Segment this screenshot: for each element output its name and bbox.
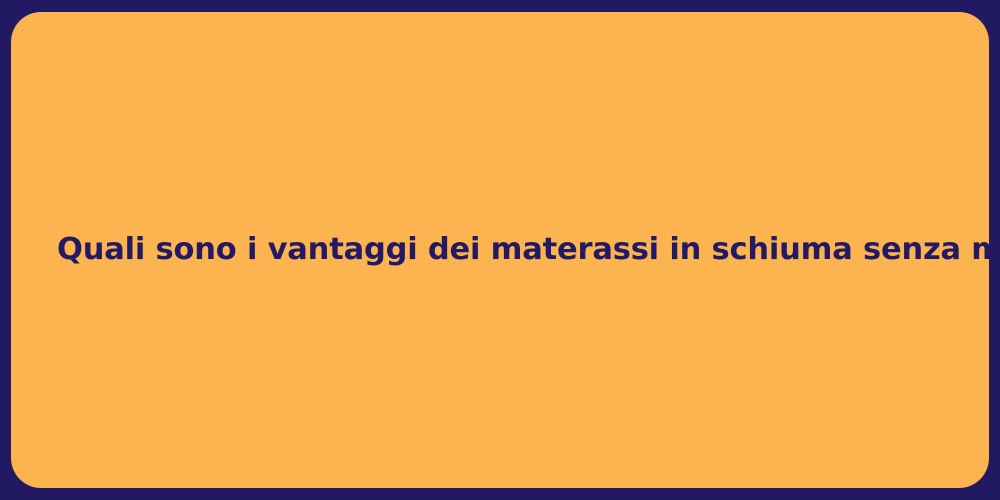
question-card-frame: Quali sono i vantaggi dei materassi in s… [0, 0, 1000, 500]
question-title: Quali sono i vantaggi dei materassi in s… [57, 231, 943, 269]
question-card-surface: Quali sono i vantaggi dei materassi in s… [11, 12, 989, 488]
